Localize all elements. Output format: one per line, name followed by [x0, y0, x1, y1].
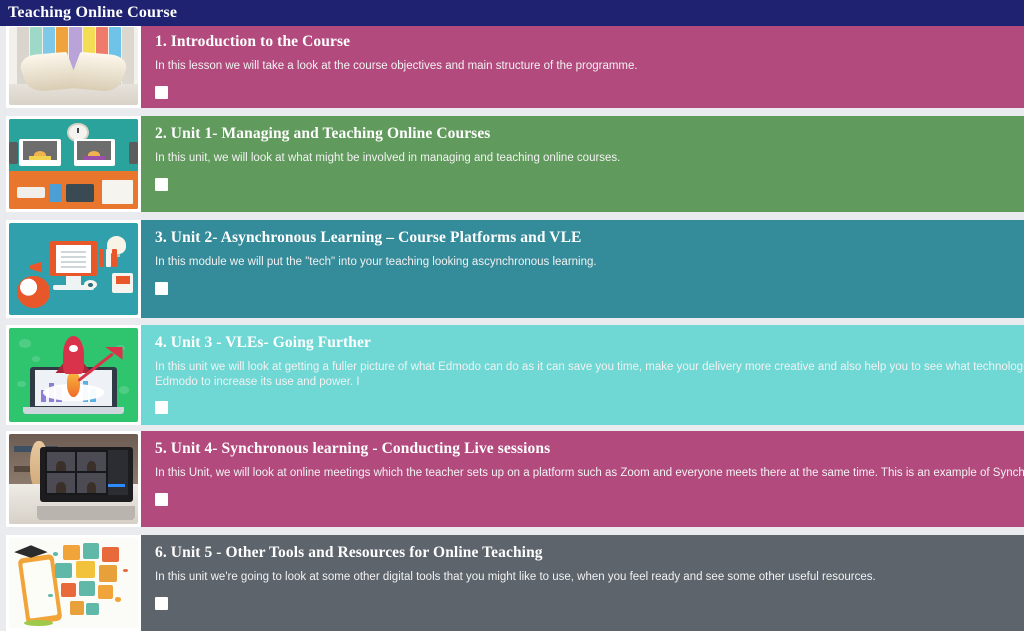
lesson-title: 6. Unit 5 - Other Tools and Resources fo…	[155, 544, 1024, 561]
lesson-content: 1. Introduction to the Course In this le…	[141, 24, 1024, 108]
lesson-content: 4. Unit 3 - VLEs- Going Further In this …	[141, 325, 1024, 425]
lesson-thumbnail[interactable]	[6, 220, 141, 318]
lesson-complete-checkbox[interactable]	[155, 597, 168, 610]
lesson-description: In this unit, we will look at what might…	[155, 151, 1024, 166]
lesson-thumbnail[interactable]	[6, 116, 141, 212]
lesson-card[interactable]: 3. Unit 2- Asynchronous Learning – Cours…	[6, 220, 1024, 318]
lesson-content: 2. Unit 1- Managing and Teaching Online …	[141, 116, 1024, 212]
lesson-description: In this Unit, we will look at online mee…	[155, 466, 1024, 481]
lesson-thumbnail[interactable]	[6, 431, 141, 527]
lesson-content: 6. Unit 5 - Other Tools and Resources fo…	[141, 535, 1024, 631]
lesson-complete-checkbox[interactable]	[155, 493, 168, 506]
zoom-call-laptop-thumbnail-art	[9, 434, 138, 524]
lesson-list: 1. Introduction to the Course In this le…	[0, 0, 1024, 631]
lesson-complete-checkbox[interactable]	[155, 282, 168, 295]
page-title: Teaching Online Course	[8, 4, 177, 22]
lesson-complete-checkbox[interactable]	[155, 401, 168, 414]
elearning-icons-thumbnail-art	[9, 223, 138, 315]
lesson-card[interactable]: 1. Introduction to the Course In this le…	[6, 24, 1024, 108]
lesson-card[interactable]: 4. Unit 3 - VLEs- Going Further In this …	[6, 325, 1024, 425]
lesson-title: 1. Introduction to the Course	[155, 33, 1024, 50]
lesson-title: 2. Unit 1- Managing and Teaching Online …	[155, 125, 1024, 142]
lesson-thumbnail[interactable]	[6, 325, 141, 425]
lesson-description: In this lesson we will take a look at th…	[155, 59, 1024, 74]
lesson-complete-checkbox[interactable]	[155, 86, 168, 99]
lesson-thumbnail[interactable]	[6, 535, 141, 631]
lesson-description: In this unit we're going to look at some…	[155, 570, 1024, 585]
books-thumbnail-art	[9, 27, 138, 105]
lesson-description: In this module we will put the "tech" in…	[155, 255, 1024, 270]
lesson-card[interactable]: 2. Unit 1- Managing and Teaching Online …	[6, 116, 1024, 212]
lesson-card[interactable]: 6. Unit 5 - Other Tools and Resources fo…	[6, 535, 1024, 631]
lesson-thumbnail[interactable]	[6, 24, 141, 108]
lesson-content: 5. Unit 4- Synchronous learning - Conduc…	[141, 431, 1024, 527]
rocket-laptop-thumbnail-art	[9, 328, 138, 422]
phone-apps-thumbnail-art	[9, 538, 138, 628]
app-header: Teaching Online Course	[0, 0, 1024, 26]
lesson-content: 3. Unit 2- Asynchronous Learning – Cours…	[141, 220, 1024, 318]
lesson-title: 3. Unit 2- Asynchronous Learning – Cours…	[155, 229, 1024, 246]
lesson-card[interactable]: 5. Unit 4- Synchronous learning - Conduc…	[6, 431, 1024, 527]
lesson-title: 4. Unit 3 - VLEs- Going Further	[155, 334, 1024, 351]
lesson-complete-checkbox[interactable]	[155, 178, 168, 191]
lesson-title: 5. Unit 4- Synchronous learning - Conduc…	[155, 440, 1024, 457]
video-conference-desk-thumbnail-art	[9, 119, 138, 209]
lesson-description: In this unit we will look at getting a f…	[155, 360, 1024, 390]
